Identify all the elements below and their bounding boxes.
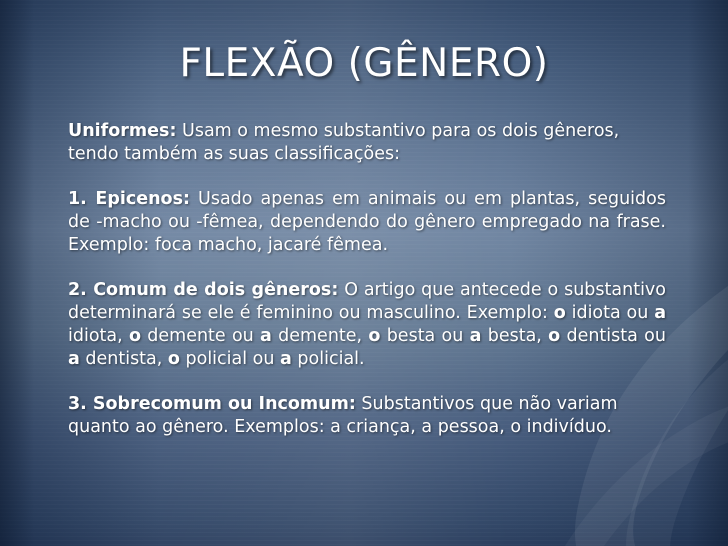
slide-body: Uniformes: Usam o mesmo substantivo para… [68, 120, 666, 439]
paragraph-comum-lead: 2. Comum de dois gêneros: [68, 280, 338, 300]
article-a-1: a [654, 303, 666, 323]
paragraph-sobrecomum-lead: 3. Sobrecomum ou Incomum: [68, 394, 356, 414]
paragraph-comum-text-4: demente ou [141, 326, 260, 346]
paragraph-comum-text-11: policial. [292, 349, 365, 369]
article-o-3: o [368, 326, 380, 346]
paragraph-comum-text-5: demente, [272, 326, 369, 346]
paragraph-comum-text-8: dentista ou [560, 326, 666, 346]
article-a-5: a [280, 349, 292, 369]
slide: FLEXÃO (GÊNERO) Uniformes: Usam o mesmo … [0, 0, 728, 546]
paragraph-comum-text-9: dentista, [80, 349, 168, 369]
article-a-4: a [68, 349, 80, 369]
paragraph-epicenos: 1. Epicenos: Usado apenas em animais ou … [68, 188, 666, 257]
paragraph-comum-text-10: policial ou [180, 349, 280, 369]
article-a-2: a [260, 326, 272, 346]
paragraph-comum: 2. Comum de dois gêneros: O artigo que a… [68, 279, 666, 371]
page-title: FLEXÃO (GÊNERO) [0, 40, 728, 88]
article-o-4: o [548, 326, 560, 346]
paragraph-comum-text-3: idiota, [68, 326, 129, 346]
article-a-3: a [470, 326, 482, 346]
paragraph-comum-text-6: besta ou [380, 326, 469, 346]
paragraph-uniformes: Uniformes: Usam o mesmo substantivo para… [68, 120, 666, 166]
paragraph-comum-text-7: besta, [481, 326, 548, 346]
article-o-1: o [554, 303, 566, 323]
paragraph-epicenos-lead: 1. Epicenos: [68, 189, 190, 209]
article-o-2: o [129, 326, 141, 346]
article-o-5: o [168, 349, 180, 369]
paragraph-comum-text-2: idiota ou [566, 303, 654, 323]
paragraph-uniformes-lead: Uniformes: [68, 121, 176, 141]
paragraph-sobrecomum: 3. Sobrecomum ou Incomum: Substantivos q… [68, 393, 666, 439]
